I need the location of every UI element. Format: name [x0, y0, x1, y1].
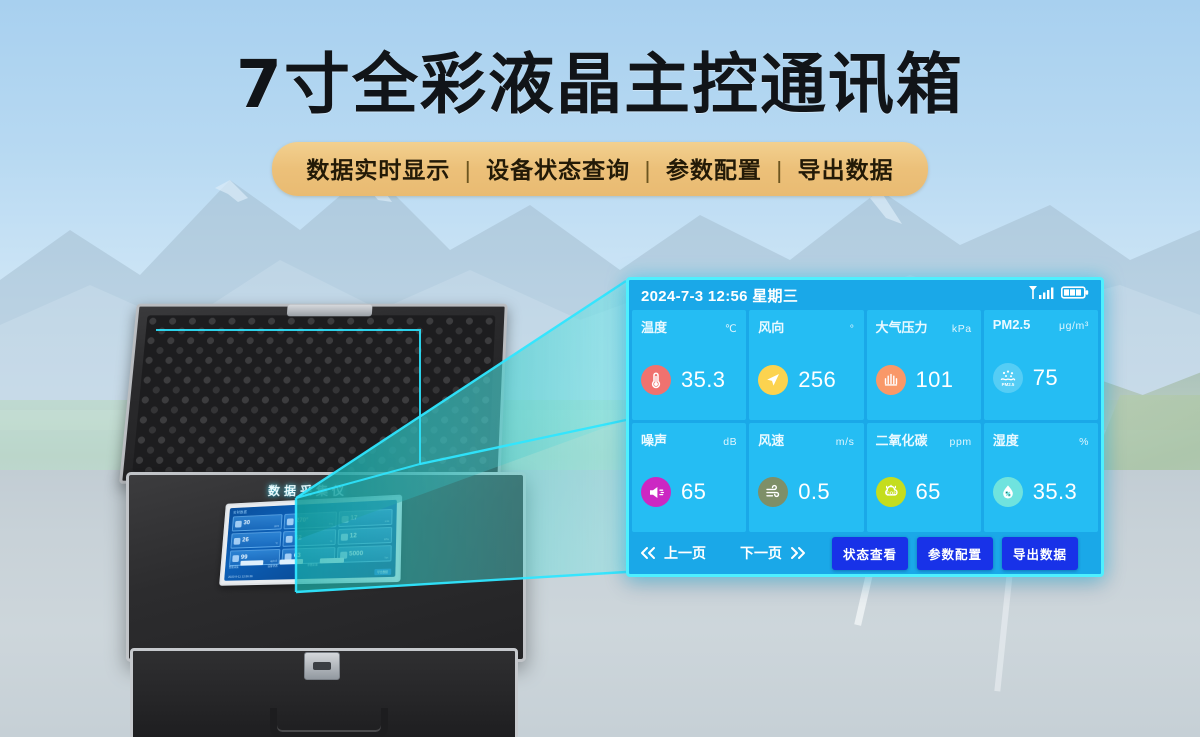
chevron-double-left-icon [639, 545, 659, 561]
tile-value: 35.3 [681, 367, 725, 393]
svg-text:PM2.5: PM2.5 [1001, 382, 1014, 387]
tile-label: PM2.5 [993, 317, 1031, 332]
next-page-button[interactable]: 下一页 [740, 543, 807, 563]
mini-unit: kPa [384, 538, 389, 541]
tile-label: 二氧化碳 [876, 430, 928, 449]
prev-page-button[interactable]: 上一页 [639, 543, 706, 563]
tile-label: 风速 [758, 430, 784, 449]
mini-sensor-icon [341, 515, 348, 522]
poster-header: 7寸全彩液晶主控通讯箱 数据实时显示 | 设备状态查询 | 参数配置 | 导出数… [0, 0, 1200, 196]
mini-value: 12 [350, 533, 357, 539]
feature-badge: 数据实时显示 | 设备状态查询 | 参数配置 | 导出数据 [272, 142, 927, 196]
status-bar: 2024-7-3 12:56 星期三 [629, 280, 1101, 310]
tile-unit: kPa [952, 323, 972, 335]
mini-sensor-icon [287, 518, 294, 525]
case-lid [119, 304, 508, 484]
battery-icon [1061, 285, 1089, 305]
mini-value: 270° [296, 518, 309, 525]
tile-pm25[interactable]: PM2.5μg/m³ PM2.5 75 [984, 310, 1098, 420]
mini-value: 17 [350, 515, 357, 521]
mini-tile[interactable]: 52% [283, 529, 336, 547]
svg-text:CO2: CO2 [886, 491, 896, 496]
mini-unit: ℃ [275, 542, 278, 545]
tile-co2[interactable]: 二氧化碳ppm CO2 65 [867, 423, 981, 533]
parameter-config-button[interactable]: 参数配置 [917, 537, 993, 570]
pressure-gauge-icon [876, 365, 906, 395]
tile-unit: μg/m³ [1059, 320, 1089, 332]
chevron-double-right-icon [787, 545, 807, 561]
tile-value: 0.5 [798, 479, 830, 505]
mini-form-label: 设备状态 [267, 565, 277, 568]
tile-label: 大气压力 [876, 317, 928, 336]
mini-timestamp: 2023-9-11 12:56:36 [228, 574, 253, 579]
water-drop-icon [993, 477, 1023, 507]
tile-wind-direction[interactable]: 风向° 256 [749, 310, 863, 420]
feature-sep-1: | [645, 157, 652, 183]
mini-input[interactable] [241, 560, 264, 566]
lid-hinge [287, 305, 373, 317]
tile-unit: % [1079, 436, 1089, 448]
panel-footer: 上一页 下一页 状态查看 参数配置 导出数据 [629, 532, 1101, 574]
tile-label: 噪声 [641, 430, 667, 449]
mini-sensor-icon [286, 535, 293, 542]
tile-air-pressure[interactable]: 大气压力kPa 101 [867, 310, 981, 420]
export-data-button[interactable]: 导出数据 [1002, 537, 1078, 570]
mini-tile[interactable]: 12kPa [337, 527, 392, 545]
mini-unit: ppm [274, 525, 279, 528]
tile-label: 温度 [641, 317, 667, 336]
speaker-icon [641, 477, 671, 507]
portable-case: 数据采集仪 实时数据 30ppm 270°deg 17m/s 26℃ 52% 1… [120, 296, 540, 716]
mini-value: 52 [295, 535, 302, 541]
tile-unit: dB [723, 436, 737, 448]
tile-value: 35.3 [1033, 479, 1077, 505]
mini-sensor-icon [341, 533, 348, 540]
device-lcd-screen[interactable]: 实时数据 30ppm 270°deg 17m/s 26℃ 52% 12kPa 9… [219, 495, 402, 586]
navigation-arrow-icon [758, 365, 788, 395]
case-handle[interactable] [270, 708, 388, 737]
mini-input[interactable] [320, 558, 344, 564]
tile-temperature[interactable]: 温度℃ 35.3 [632, 310, 746, 420]
status-datetime: 2024-7-3 12:56 星期三 [641, 285, 798, 306]
foam-padding [132, 315, 495, 471]
feature-item-1: 设备状态查询 [486, 157, 630, 183]
mini-unit: % [330, 540, 332, 543]
tile-noise[interactable]: 噪声dB 65 [632, 423, 746, 533]
next-page-label: 下一页 [740, 543, 782, 563]
mini-tile[interactable]: 30ppm [232, 514, 283, 531]
feature-item-3: 导出数据 [798, 157, 894, 183]
pm25-icon: PM2.5 [993, 363, 1023, 393]
co2-cloud-icon: CO2 [876, 477, 906, 507]
mini-export-button[interactable]: 导出数据 [374, 569, 391, 576]
tile-value: 65 [916, 479, 941, 505]
mini-tile[interactable]: 270°deg [284, 512, 337, 530]
feature-item-0: 数据实时显示 [306, 157, 450, 183]
feature-sep-2: | [776, 157, 783, 183]
mini-tile[interactable]: 17m/s [338, 509, 393, 527]
page-title: 7寸全彩液晶主控通讯箱 [0, 0, 1200, 122]
mini-unit: m/s [385, 520, 389, 523]
tile-value: 65 [681, 479, 706, 505]
mini-section-label: 实时数据 [233, 509, 247, 514]
tile-label: 湿度 [993, 430, 1019, 449]
tile-wind-speed[interactable]: 风速m/s 0.5 [749, 423, 863, 533]
tile-unit: ℃ [725, 323, 737, 335]
tile-value: 75 [1033, 365, 1058, 391]
mini-form-label: 数据采集 [229, 566, 239, 569]
status-view-button[interactable]: 状态查看 [832, 537, 908, 570]
mini-sensor-icon [234, 538, 241, 545]
mini-tile[interactable]: 26℃ [230, 532, 281, 549]
tile-unit: ° [850, 323, 855, 335]
tile-unit: ppm [950, 436, 972, 448]
lcd-main-panel: 2024-7-3 12:56 星期三 [626, 277, 1104, 577]
tile-humidity[interactable]: 湿度% 35.3 [984, 423, 1098, 533]
wind-icon [758, 477, 788, 507]
tile-value: 256 [798, 367, 836, 393]
mini-sensor-icon [235, 520, 242, 527]
feature-sep-0: | [465, 157, 472, 183]
tile-value: 101 [916, 367, 954, 393]
thermometer-icon [641, 365, 671, 395]
signal-bars-icon [1028, 285, 1054, 306]
feature-item-2: 参数配置 [666, 157, 762, 183]
tile-label: 风向 [758, 317, 784, 336]
case-latch[interactable] [304, 652, 340, 680]
mini-value: 26 [242, 538, 249, 544]
sensor-tile-grid: 温度℃ 35.3 风向° 256 大气压力kPa [629, 310, 1101, 532]
poster-stage: 7寸全彩液晶主控通讯箱 数据实时显示 | 设备状态查询 | 参数配置 | 导出数… [0, 0, 1200, 737]
mini-value: 30 [243, 520, 250, 526]
mini-input[interactable] [280, 559, 304, 565]
mini-form-label: 参数配置 [307, 564, 317, 567]
mini-unit: deg [329, 522, 333, 525]
prev-page-label: 上一页 [664, 543, 706, 563]
tile-unit: m/s [836, 436, 855, 448]
